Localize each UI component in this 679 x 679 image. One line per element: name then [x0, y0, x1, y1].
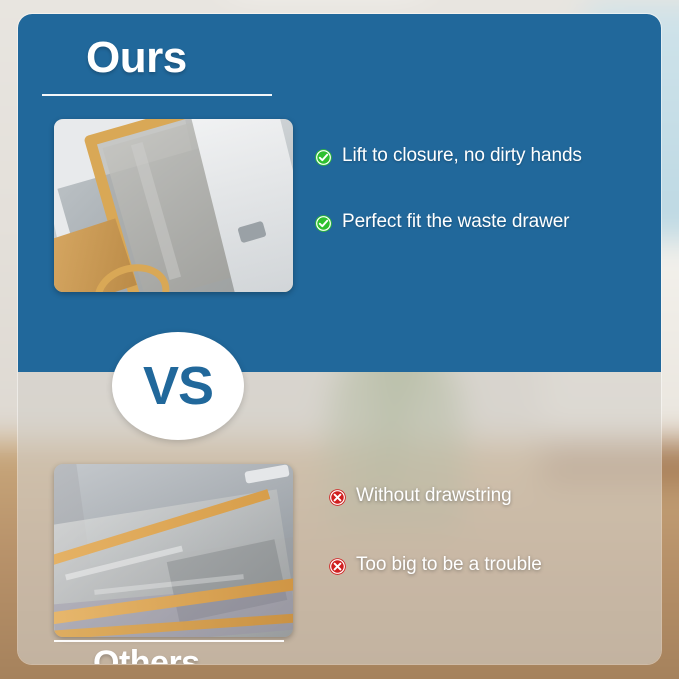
others-product-photo	[54, 464, 293, 637]
others-title-divider	[54, 640, 284, 642]
cross-circle-icon	[328, 557, 347, 576]
ours-title-divider	[42, 94, 272, 96]
list-item: Lift to closure, no dirty hands	[314, 146, 654, 167]
check-circle-icon	[314, 148, 333, 167]
list-item-label: Lift to closure, no dirty hands	[342, 146, 582, 167]
versus-badge: VS	[112, 332, 244, 440]
list-item-label: Without drawstring	[356, 486, 512, 507]
ours-benefit-list: Lift to closure, no dirty hands Perfect …	[314, 146, 654, 278]
check-circle-icon	[314, 214, 333, 233]
list-item: Too big to be a trouble	[328, 555, 658, 576]
list-item: Without drawstring	[328, 486, 658, 507]
versus-label: VS	[143, 359, 213, 413]
cross-circle-icon	[328, 488, 347, 507]
others-drawback-list: Without drawstring Too big to be a troub…	[328, 486, 658, 624]
list-item: Perfect fit the waste drawer	[314, 212, 654, 233]
comparison-card: Ours	[18, 14, 661, 664]
list-item-label: Perfect fit the waste drawer	[342, 212, 569, 233]
comparison-infographic: Ours	[0, 0, 679, 679]
ours-product-photo	[54, 119, 293, 292]
ours-title: Ours	[86, 36, 187, 80]
others-title: Others	[93, 646, 200, 664]
list-item-label: Too big to be a trouble	[356, 555, 542, 576]
ours-panel: Ours	[18, 14, 661, 372]
